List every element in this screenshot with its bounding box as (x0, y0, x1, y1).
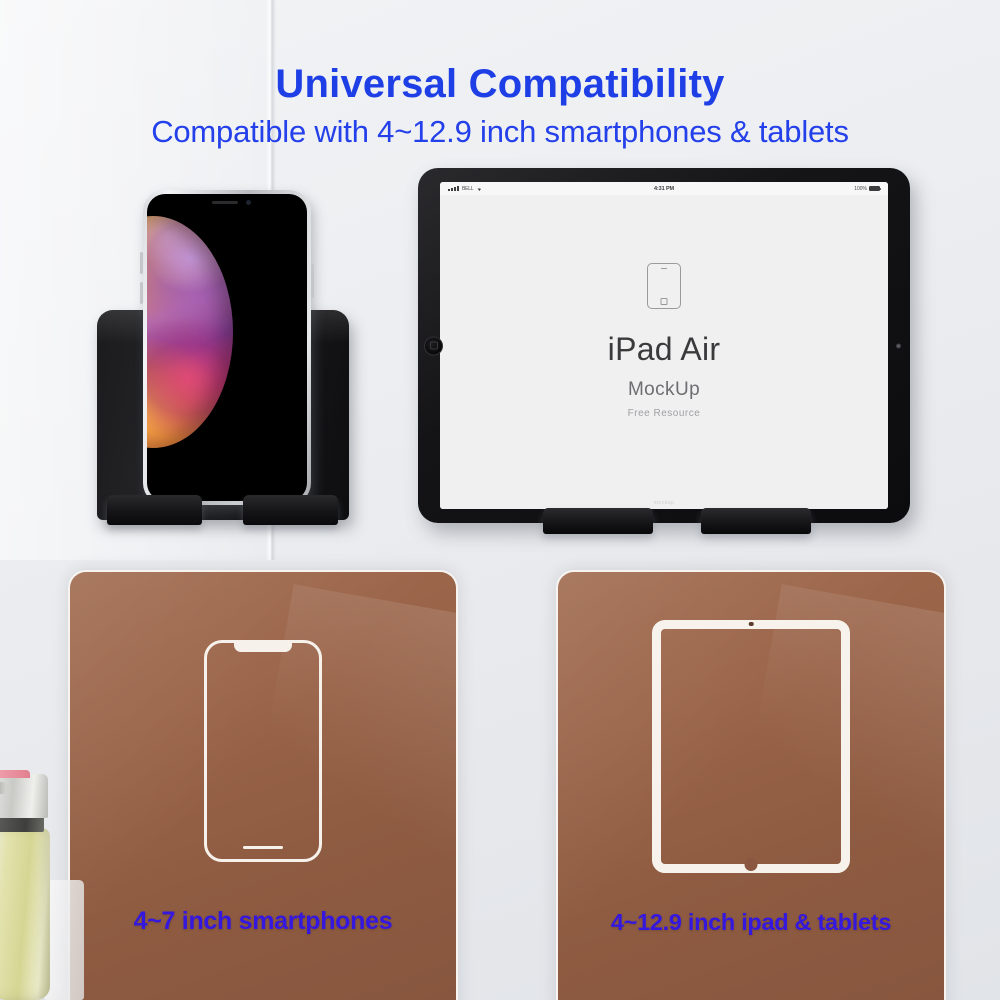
volume-down-button (140, 282, 143, 304)
phone-stand-foot-left (107, 495, 202, 525)
outline-home-button (745, 858, 758, 871)
secondary-bottle-prop (44, 880, 84, 1000)
tablet-mockup-content: iPad Air MockUp Free Resource (440, 195, 888, 509)
tablet-stand-foot-right (701, 508, 811, 534)
home-button[interactable] (424, 336, 443, 355)
smartphone-device (143, 190, 311, 505)
phone-outline-icon (204, 640, 322, 862)
outline-camera-dot (749, 622, 754, 627)
tablet-device: BELL 4:31 PM 100% iPad Air MockUp Free R… (418, 168, 910, 523)
phone-notch (190, 194, 264, 213)
signal-bars-icon (448, 186, 459, 191)
clock-label: 4:31 PM (654, 186, 674, 192)
panel-tablets: 4~12.9 inch ipad & tablets (556, 570, 946, 1000)
battery-full-icon (869, 186, 880, 191)
bottle-body (0, 828, 50, 1000)
panel-smartphones: 4~7 inch smartphones (68, 570, 458, 1000)
status-left-group: BELL (448, 186, 654, 192)
power-button (311, 264, 314, 298)
bottle-trigger (0, 770, 30, 778)
page-title: Universal Compatibility (0, 62, 1000, 107)
outline-home-bar (243, 846, 283, 850)
tablet-outline-icon (647, 263, 681, 309)
bottle-cap (0, 774, 48, 818)
page-subtitle: Compatible with 4~12.9 inch smartphones … (0, 113, 1000, 150)
header-block: Universal Compatibility Compatible with … (0, 62, 1000, 150)
volume-up-button (140, 252, 143, 274)
status-right-group: 100% (674, 186, 880, 192)
screen-watermark: mockup (654, 500, 675, 506)
earpiece-speaker-icon (212, 201, 238, 204)
bottle-prop (0, 740, 54, 1000)
mockup-subtitle: MockUp (628, 379, 700, 401)
bottle-nozzle (0, 782, 6, 794)
battery-percent-label: 100% (854, 186, 867, 192)
carrier-label: BELL (462, 186, 473, 192)
bubble-wallpaper (147, 216, 233, 448)
tablet-outline-icon (652, 620, 850, 873)
panel-caption-tablets: 4~12.9 inch ipad & tablets (558, 909, 944, 936)
front-camera-icon (246, 200, 251, 205)
front-camera-icon (896, 343, 901, 348)
wallpaper-highlight (147, 258, 153, 408)
phone-screen (147, 194, 307, 501)
ipad-demo-group: BELL 4:31 PM 100% iPad Air MockUp Free R… (418, 168, 918, 540)
product-infographic: Universal Compatibility Compatible with … (0, 0, 1000, 1000)
outline-notch (234, 640, 292, 652)
phone-stand-foot-right (243, 495, 338, 525)
tablet-screen: BELL 4:31 PM 100% iPad Air MockUp Free R… (440, 182, 888, 509)
mockup-title: iPad Air (608, 331, 721, 368)
mockup-caption: Free Resource (628, 408, 701, 419)
tablet-status-bar: BELL 4:31 PM 100% (440, 182, 888, 195)
phone-demo-group (95, 190, 365, 540)
panel-caption-smartphones: 4~7 inch smartphones (70, 907, 456, 936)
tablet-stand-foot-left (543, 508, 653, 534)
wifi-icon (476, 186, 482, 191)
